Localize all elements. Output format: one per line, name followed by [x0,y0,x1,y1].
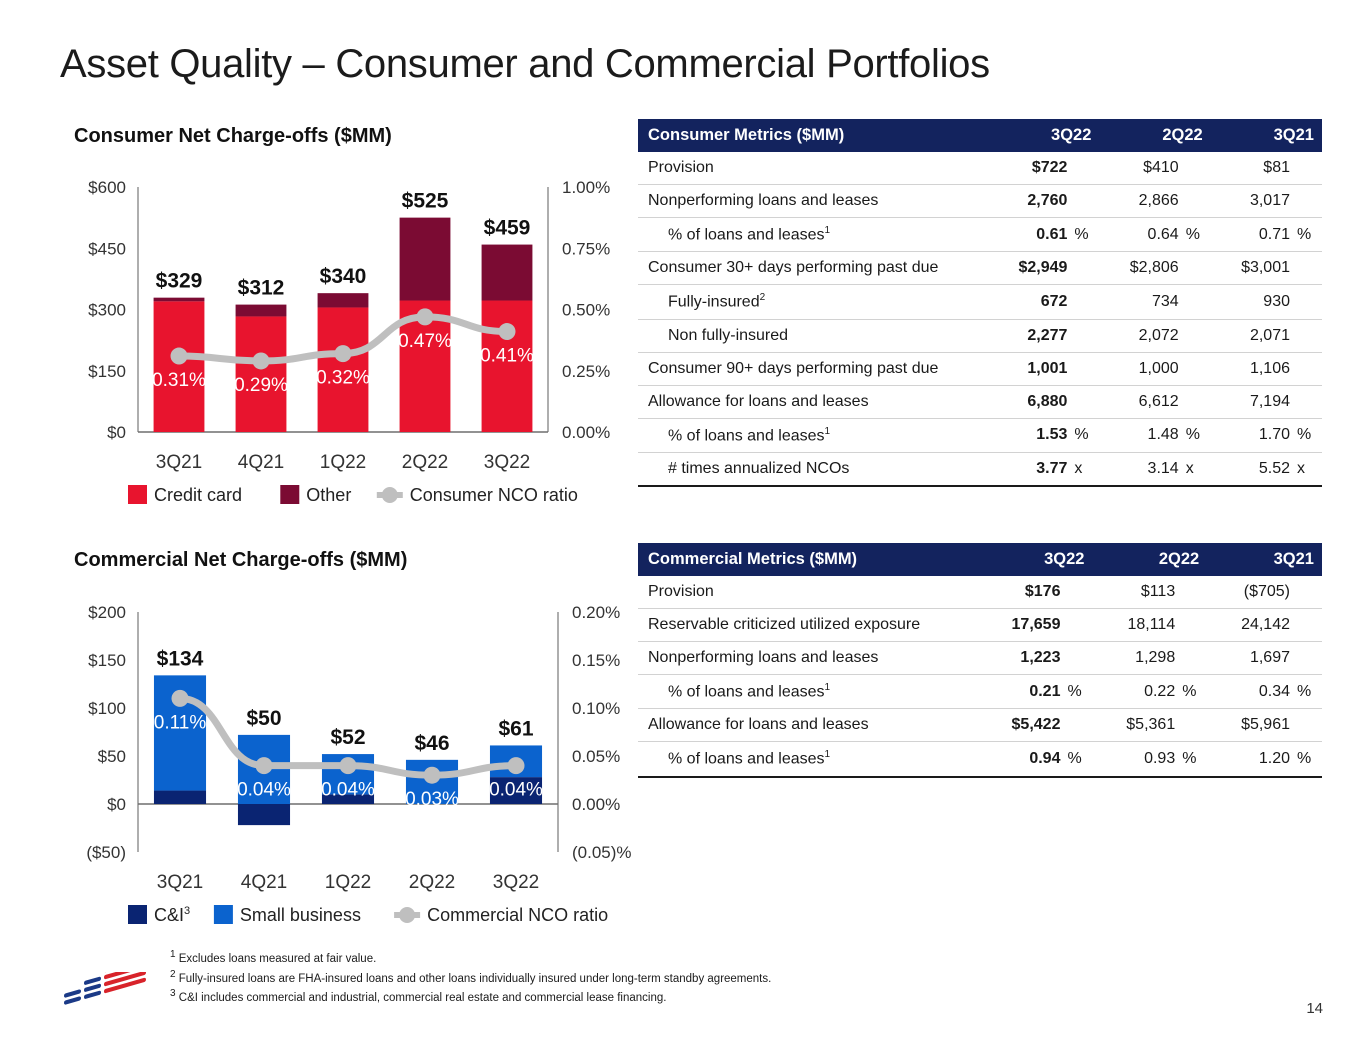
row-label: % of loans and leases1 [638,418,988,452]
bar-total-label: $329 [156,270,203,293]
consumer-metrics-table: Consumer Metrics ($MM)3Q222Q223Q21Provis… [638,119,1322,487]
table-row: % of loans and leases10.61%0.64%0.71% [638,218,1322,252]
page-number: 14 [1306,1000,1323,1017]
row-value-1: 2,277 [988,319,1099,352]
nco-ratio-point [417,308,434,325]
commercial-metrics-header-col-2: 2Q22 [1092,543,1207,576]
row-label: # times annualized NCOs [638,452,988,486]
row-value-3: 1.70% [1211,418,1322,452]
y2-tick-label: 0.00% [562,423,610,442]
x-tick-label: 4Q21 [238,452,284,473]
table-row: Allowance for loans and leases$5,422$5,3… [638,709,1322,742]
nco-ratio-label: 0.47% [398,331,452,352]
bar-segment [154,301,205,432]
commercial-metrics-header-label: Commercial Metrics ($MM) [638,543,978,576]
x-tick-label: 3Q22 [484,452,530,473]
legend-swatch [280,485,299,504]
nco-ratio-label: 0.03% [405,789,459,810]
row-label: Provision [638,152,988,185]
y-tick-label: $200 [88,603,126,622]
row-value-3: 0.34% [1207,675,1322,709]
row-value-1: 0.61% [988,218,1099,252]
bar-total-label: $525 [402,190,449,213]
row-label: Nonperforming loans and leases [638,642,978,675]
legend-swatch [128,485,147,504]
bar-total-label: $50 [246,707,281,730]
commercial-metrics-header-col-1: 3Q22 [978,543,1093,576]
consumer-metrics-header-col-2: 2Q22 [1099,119,1210,152]
row-value-3: 3,017 [1211,185,1322,218]
y2-tick-label: (0.05)% [572,843,632,862]
y2-tick-label: 0.10% [572,699,620,718]
row-value-1: 1,001 [988,352,1099,385]
x-tick-label: 2Q22 [409,872,455,893]
legend-label: Credit card [154,485,242,505]
table-row: Fully-insured2672734930 [638,285,1322,319]
nco-ratio-label: 0.04% [237,780,291,801]
footnote: 1 Excludes loans measured at fair value. [170,948,771,968]
bar-segment [482,245,533,301]
row-value-1: $5,422 [978,709,1093,742]
table-row: Consumer 90+ days performing past due1,0… [638,352,1322,385]
commercial-metrics-header-row: Commercial Metrics ($MM)3Q222Q223Q21 [638,543,1322,576]
row-value-2: 734 [1099,285,1210,319]
bar-segment [400,218,451,301]
row-label: Allowance for loans and leases [638,385,988,418]
row-value-2: 0.22% [1092,675,1207,709]
table-row: Allowance for loans and leases6,8806,612… [638,385,1322,418]
bar-total-label: $312 [238,277,285,300]
y2-tick-label: 0.05% [572,747,620,766]
bar-total-label: $459 [484,217,531,240]
nco-ratio-point [499,323,516,340]
row-value-2: 6,612 [1099,385,1210,418]
row-value-1: $176 [978,576,1093,609]
consumer-metrics-header-label: Consumer Metrics ($MM) [638,119,988,152]
row-label: % of loans and leases1 [638,742,978,777]
x-tick-label: 4Q21 [241,872,287,893]
bar-segment [154,298,205,302]
row-value-2: 1,000 [1099,352,1210,385]
row-value-2: $410 [1099,152,1210,185]
consumer-metrics-header-row: Consumer Metrics ($MM)3Q222Q223Q21 [638,119,1322,152]
row-label: Consumer 30+ days performing past due [638,252,988,285]
footnote: 3 C&I includes commercial and industrial… [170,987,771,1007]
footnotes: 1 Excludes loans measured at fair value.… [170,948,771,1007]
y-tick-label: $150 [88,651,126,670]
consumer-metrics-header-col-1: 3Q22 [988,119,1099,152]
row-value-3: 7,194 [1211,385,1322,418]
bar-total-label: $52 [330,726,365,749]
bar-segment [238,804,290,825]
x-tick-label: 3Q21 [156,452,202,473]
legend-swatch [214,905,233,924]
row-value-2: 1,298 [1092,642,1207,675]
nco-ratio-point [340,757,357,774]
row-value-2: 2,866 [1099,185,1210,218]
table-row: # times annualized NCOs3.77x3.14x5.52x [638,452,1322,486]
legend-label: Small business [240,905,361,925]
x-tick-label: 1Q22 [325,872,371,893]
table-row: Reservable criticized utilized exposure1… [638,609,1322,642]
row-value-1: 17,659 [978,609,1093,642]
row-value-2: 0.64% [1099,218,1210,252]
row-value-1: 6,880 [988,385,1099,418]
nco-ratio-label: 0.04% [489,780,543,801]
consumer-chart-heading: Consumer Net Charge-offs ($MM) [74,125,392,148]
slide: Asset Quality – Consumer and Commercial … [0,0,1365,1055]
legend-marker [382,487,398,503]
nco-ratio-label: 0.29% [234,375,288,396]
footnote: 2 Fully-insured loans are FHA-insured lo… [170,968,771,988]
row-value-3: 1,106 [1211,352,1322,385]
row-value-3: 2,071 [1211,319,1322,352]
nco-ratio-label: 0.11% [154,712,207,733]
row-value-3: $81 [1211,152,1322,185]
y2-tick-label: 0.00% [572,795,620,814]
consumer-nco-chart: $0$150$300$450$6000.00%0.25%0.50%0.75%1.… [60,165,630,520]
row-value-3: 24,142 [1207,609,1322,642]
row-value-3: $3,001 [1211,252,1322,285]
row-label: Consumer 90+ days performing past due [638,352,988,385]
table-row: % of loans and leases10.94%0.93%1.20% [638,742,1322,777]
y2-tick-label: 0.25% [562,362,610,381]
row-value-2: 3.14x [1099,452,1210,486]
nco-ratio-label: 0.32% [316,368,370,389]
row-value-1: 3.77x [988,452,1099,486]
legend-label: C&I3 [154,905,190,925]
bar-total-label: $46 [414,732,449,755]
table-row: Provision$722$410$81 [638,152,1322,185]
row-value-3: 1,697 [1207,642,1322,675]
row-value-1: $2,949 [988,252,1099,285]
consumer-metrics-header-col-3: 3Q21 [1211,119,1322,152]
legend-swatch [128,905,147,924]
bar-segment [318,293,369,307]
legend-label: Commercial NCO ratio [427,905,608,925]
row-value-2: 18,114 [1092,609,1207,642]
nco-ratio-point [172,690,189,707]
y2-tick-label: 0.15% [572,651,620,670]
commercial-nco-chart: ($50)$0$50$100$150$200(0.05)%0.00%0.05%0… [60,590,640,940]
table-row: Consumer 30+ days performing past due$2,… [638,252,1322,285]
row-value-1: 1.53% [988,418,1099,452]
table-row: Non fully-insured2,2772,0722,071 [638,319,1322,352]
row-value-1: 0.94% [978,742,1093,777]
nco-ratio-point [256,757,273,774]
row-value-1: 0.21% [978,675,1093,709]
nco-ratio-point [335,345,352,362]
table-row: Nonperforming loans and leases1,2231,298… [638,642,1322,675]
y-tick-label: $0 [107,423,126,442]
row-label: Reservable criticized utilized exposure [638,609,978,642]
commercial-metrics-table: Commercial Metrics ($MM)3Q222Q223Q21Prov… [638,543,1322,778]
nco-ratio-point [508,757,525,774]
row-value-1: 2,760 [988,185,1099,218]
y-tick-label: $100 [88,699,126,718]
table-row: Provision$176$113($705) [638,576,1322,609]
commercial-metrics-header-col-3: 3Q21 [1207,543,1322,576]
row-value-1: 1,223 [978,642,1093,675]
nco-ratio-point [424,767,441,784]
nco-ratio-label: 0.31% [152,370,206,391]
y-tick-label: $600 [88,178,126,197]
row-value-2: $2,806 [1099,252,1210,285]
x-tick-label: 3Q22 [493,872,539,893]
y-tick-label: $0 [107,795,126,814]
row-value-3: 0.71% [1211,218,1322,252]
row-value-3: 1.20% [1207,742,1322,777]
nco-ratio-label: 0.41% [480,346,534,367]
commercial-chart-heading: Commercial Net Charge-offs ($MM) [74,549,407,572]
bar-total-label: $134 [157,647,204,670]
row-label: Non fully-insured [638,319,988,352]
row-label: Allowance for loans and leases [638,709,978,742]
nco-ratio-point [171,348,188,365]
table-row: Nonperforming loans and leases2,7602,866… [638,185,1322,218]
bar-total-label: $61 [498,717,533,740]
y-tick-label: $150 [88,362,126,381]
x-tick-label: 3Q21 [157,872,203,893]
row-label: Provision [638,576,978,609]
legend-label: Other [306,485,351,505]
table-row: % of loans and leases10.21%0.22%0.34% [638,675,1322,709]
row-value-3: 5.52x [1211,452,1322,486]
y-tick-label: $300 [88,301,126,320]
row-value-2: $113 [1092,576,1207,609]
y2-tick-label: 0.20% [572,603,620,622]
row-value-1: $722 [988,152,1099,185]
bar-total-label: $340 [320,265,367,288]
x-tick-label: 1Q22 [320,452,366,473]
row-value-1: 672 [988,285,1099,319]
nco-ratio-label: 0.04% [321,780,375,801]
y2-tick-label: 1.00% [562,178,610,197]
bank-of-america-logo [60,972,160,1022]
legend-marker [399,907,415,923]
row-value-2: 2,072 [1099,319,1210,352]
row-label: Nonperforming loans and leases [638,185,988,218]
y2-tick-label: 0.75% [562,239,610,258]
page-title: Asset Quality – Consumer and Commercial … [60,42,990,87]
row-value-2: 0.93% [1092,742,1207,777]
row-value-3: ($705) [1207,576,1322,609]
row-label: % of loans and leases1 [638,675,978,709]
y-tick-label: $50 [98,747,126,766]
x-tick-label: 2Q22 [402,452,448,473]
row-value-3: $5,961 [1207,709,1322,742]
row-value-2: 1.48% [1099,418,1210,452]
y-tick-label: ($50) [86,843,126,862]
row-label: % of loans and leases1 [638,218,988,252]
legend-label: Consumer NCO ratio [410,485,578,505]
row-value-2: $5,361 [1092,709,1207,742]
bar-segment [236,305,287,317]
nco-ratio-point [253,352,270,369]
row-value-3: 930 [1211,285,1322,319]
bar-segment [154,791,206,804]
row-label: Fully-insured2 [638,285,988,319]
y2-tick-label: 0.50% [562,301,610,320]
table-row: % of loans and leases11.53%1.48%1.70% [638,418,1322,452]
y-tick-label: $450 [88,239,126,258]
